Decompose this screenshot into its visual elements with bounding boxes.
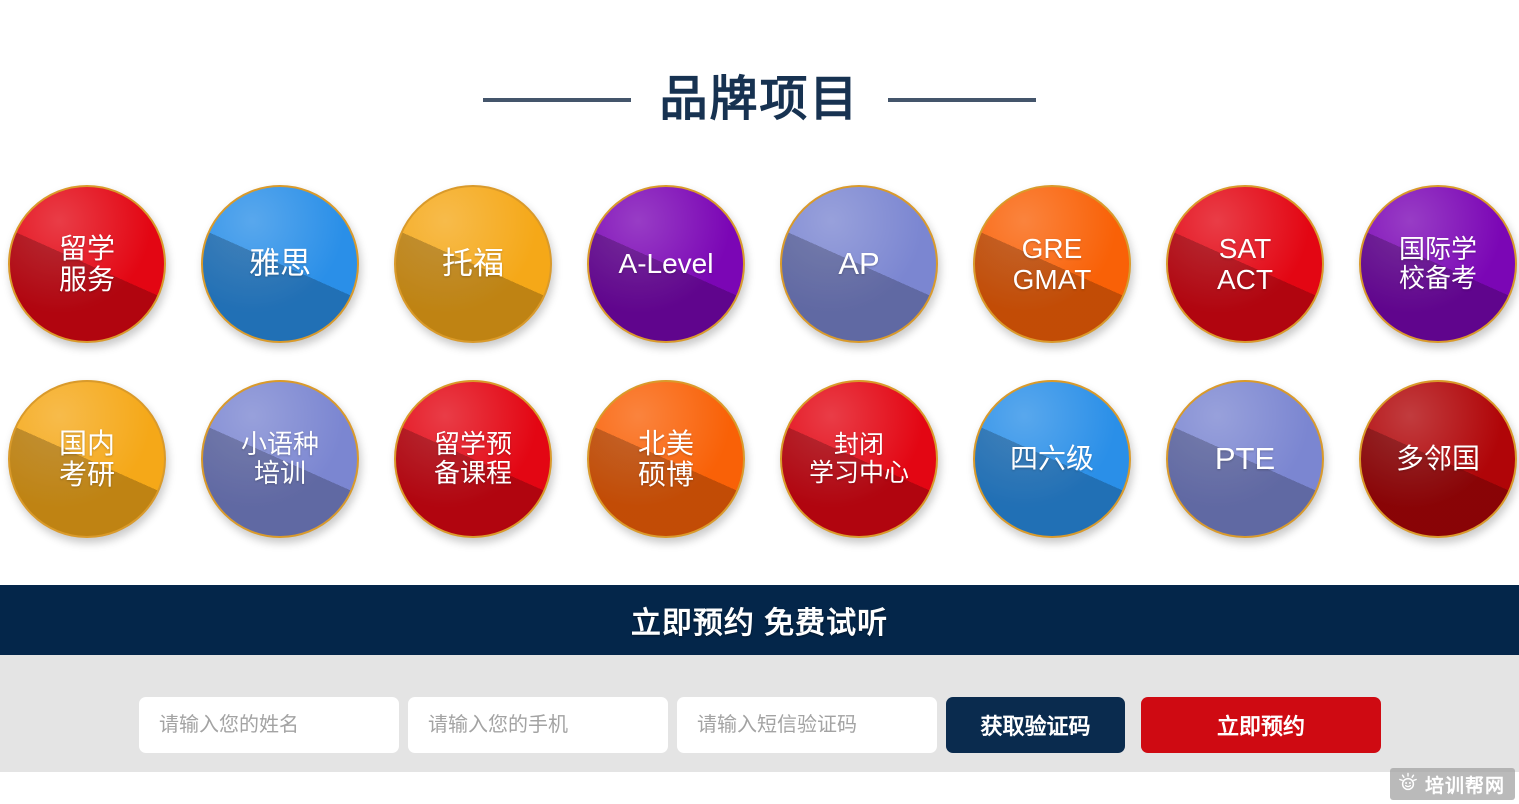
program-bubble[interactable]: SAT ACT — [1166, 185, 1324, 343]
program-bubble[interactable]: 雅思 — [201, 185, 359, 343]
program-bubble-label: 封闭 学习中心 — [807, 431, 911, 487]
submit-booking-button[interactable]: 立即预约 — [1141, 697, 1381, 753]
program-bubble[interactable]: AP — [780, 185, 938, 343]
title-rule-left — [483, 98, 631, 102]
program-bubble-label: 雅思 — [247, 247, 313, 282]
get-code-button[interactable]: 获取验证码 — [946, 697, 1125, 753]
cta-banner: 立即预约 免费试听 — [0, 585, 1519, 655]
title-rule-right — [888, 98, 1036, 102]
page-title: 品牌项目 — [659, 76, 859, 124]
watermark-label: 培训帮网 — [1425, 771, 1505, 798]
cta-banner-text: 立即预约 免费试听 — [631, 598, 888, 642]
program-bubble[interactable]: 留学预 备课程 — [394, 380, 552, 538]
program-bubble-label: 国内 考研 — [57, 428, 117, 491]
site-watermark: 培训帮网 — [1390, 768, 1515, 800]
program-bubble[interactable]: 国际学 校备考 — [1359, 185, 1517, 343]
program-bubble-label: 留学 服务 — [57, 233, 117, 296]
program-row-2: 国内 考研小语种 培训留学预 备课程北美 硕博封闭 学习中心四六级PTE多邻国 — [0, 375, 1519, 570]
program-bubble[interactable]: PTE — [1166, 380, 1324, 538]
program-bubble-label: GRE GMAT — [1011, 233, 1094, 296]
program-bubble[interactable]: 小语种 培训 — [201, 380, 359, 538]
program-bubble[interactable]: 多邻国 — [1359, 380, 1517, 538]
program-bubble-label: AP — [836, 247, 881, 282]
program-bubble-label: A-Level — [617, 248, 716, 279]
booking-form-strip: 获取验证码 立即预约 — [0, 655, 1519, 772]
program-grid: 留学 服务雅思托福A-LevelAPGRE GMATSAT ACT国际学 校备考… — [0, 180, 1519, 570]
program-bubble[interactable]: 四六级 — [973, 380, 1131, 538]
program-bubble-label: 小语种 培训 — [239, 430, 321, 488]
program-row-1: 留学 服务雅思托福A-LevelAPGRE GMATSAT ACT国际学 校备考 — [0, 180, 1519, 375]
program-bubble-label: 多邻国 — [1394, 443, 1482, 474]
program-bubble-label: SAT ACT — [1215, 233, 1275, 296]
booking-form: 获取验证码 立即预约 — [139, 697, 1381, 753]
program-bubble-label: 留学预 备课程 — [432, 430, 514, 488]
sms-code-input[interactable] — [677, 697, 937, 753]
program-bubble[interactable]: GRE GMAT — [973, 185, 1131, 343]
sun-face-icon — [1398, 772, 1418, 797]
name-input[interactable] — [139, 697, 399, 753]
program-bubble[interactable]: 国内 考研 — [8, 380, 166, 538]
program-bubble[interactable]: 托福 — [394, 185, 552, 343]
program-bubble-label: PTE — [1213, 442, 1277, 477]
program-bubble[interactable]: 封闭 学习中心 — [780, 380, 938, 538]
program-bubble-label: 四六级 — [1008, 443, 1096, 474]
program-bubble[interactable]: 留学 服务 — [8, 185, 166, 343]
program-bubble-label: 国际学 校备考 — [1397, 235, 1479, 293]
program-bubble-label: 北美 硕博 — [636, 428, 696, 491]
bottom-strip — [0, 772, 1519, 804]
program-bubble[interactable]: 北美 硕博 — [587, 380, 745, 538]
phone-input[interactable] — [408, 697, 668, 753]
program-bubble[interactable]: A-Level — [587, 185, 745, 343]
program-bubble-label: 托福 — [440, 247, 506, 282]
page-title-row: 品牌项目 — [0, 62, 1519, 138]
